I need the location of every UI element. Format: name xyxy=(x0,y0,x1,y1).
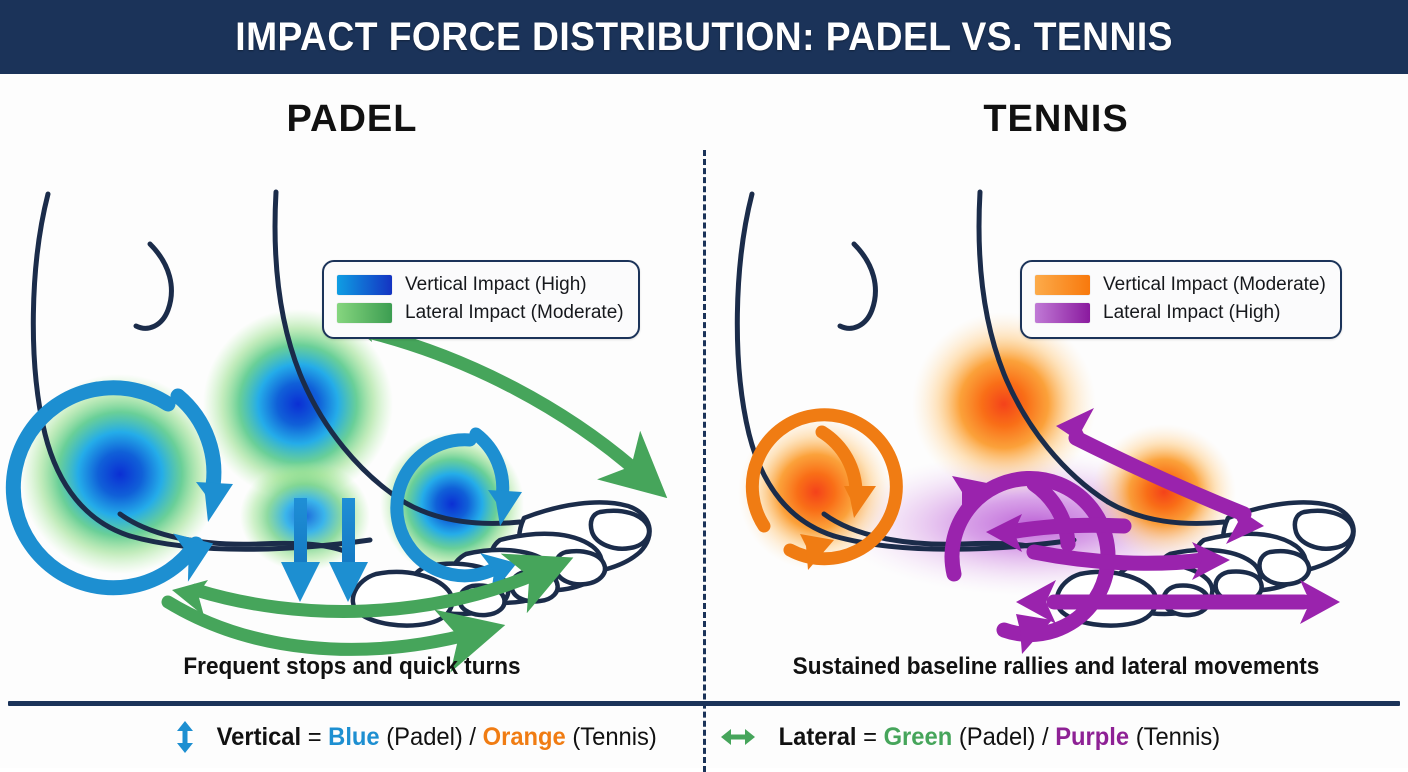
panel-divider xyxy=(703,150,706,772)
horizontal-double-arrow-icon xyxy=(720,727,756,747)
key-item-lateral: Lateral = Green (Padel) / Purple (Tennis… xyxy=(720,723,1232,752)
key-item-vertical: Vertical = Blue (Padel) / Orange (Tennis… xyxy=(176,720,668,754)
caption-padel: Frequent stops and quick turns xyxy=(21,653,683,681)
legend-label-vertical: Vertical Impact (High) xyxy=(405,274,587,296)
key-sport-tennis: (Tennis) xyxy=(566,723,657,751)
key-equals-lateral: = xyxy=(857,723,884,751)
legend-row-lateral: Lateral Impact (Moderate) xyxy=(337,299,624,327)
legend-padel: Vertical Impact (High) Lateral Impact (M… xyxy=(322,260,640,339)
caption-tennis: Sustained baseline rallies and lateral m… xyxy=(725,653,1387,681)
key-sport-padel: (Padel) / xyxy=(953,723,1056,751)
key-value-orange: Orange xyxy=(482,723,565,751)
panel-padel: PADEL xyxy=(0,74,704,703)
key-sport-padel: (Padel) / xyxy=(380,723,483,751)
footer-key: Vertical = Blue (Padel) / Orange (Tennis… xyxy=(0,706,1408,768)
key-equals-vertical: = xyxy=(301,723,328,751)
legend-row-lateral: Lateral Impact (High) xyxy=(1035,299,1326,327)
panel-tennis: TENNIS xyxy=(704,74,1408,703)
page-title: IMPACT FORCE DISTRIBUTION: PADEL VS. TEN… xyxy=(235,15,1173,60)
key-value-purple: Purple xyxy=(1056,723,1130,751)
key-term-vertical: Vertical xyxy=(216,723,301,751)
swatch-purple-gradient xyxy=(1035,303,1090,323)
infographic-page: IMPACT FORCE DISTRIBUTION: PADEL VS. TEN… xyxy=(0,0,1408,768)
legend-row-vertical: Vertical Impact (High) xyxy=(337,271,624,299)
comparison-panels: PADEL xyxy=(0,74,1408,703)
key-sport-tennis: (Tennis) xyxy=(1129,723,1220,751)
key-value-green: Green xyxy=(884,723,953,751)
key-text-lateral: Lateral = Green (Padel) / Purple (Tennis… xyxy=(779,723,1221,752)
key-term-lateral: Lateral xyxy=(779,723,857,751)
panel-heading-padel: PADEL xyxy=(0,98,704,141)
legend-tennis: Vertical Impact (Moderate) Lateral Impac… xyxy=(1020,260,1342,339)
swatch-orange-gradient xyxy=(1035,275,1090,295)
vertical-double-arrow-icon xyxy=(176,720,194,754)
legend-row-vertical: Vertical Impact (Moderate) xyxy=(1035,271,1326,299)
title-bar: IMPACT FORCE DISTRIBUTION: PADEL VS. TEN… xyxy=(0,0,1408,74)
key-value-blue: Blue xyxy=(328,723,379,751)
legend-label-vertical: Vertical Impact (Moderate) xyxy=(1103,274,1326,296)
legend-label-lateral: Lateral Impact (High) xyxy=(1103,302,1280,324)
padel-foot-diagram xyxy=(0,74,704,703)
panel-heading-tennis: TENNIS xyxy=(704,98,1408,141)
tennis-foot-diagram xyxy=(704,74,1408,703)
swatch-green-gradient xyxy=(337,303,392,323)
legend-label-lateral: Lateral Impact (Moderate) xyxy=(405,302,624,324)
key-text-vertical: Vertical = Blue (Padel) / Orange (Tennis… xyxy=(216,723,656,752)
swatch-blue-gradient xyxy=(337,275,392,295)
